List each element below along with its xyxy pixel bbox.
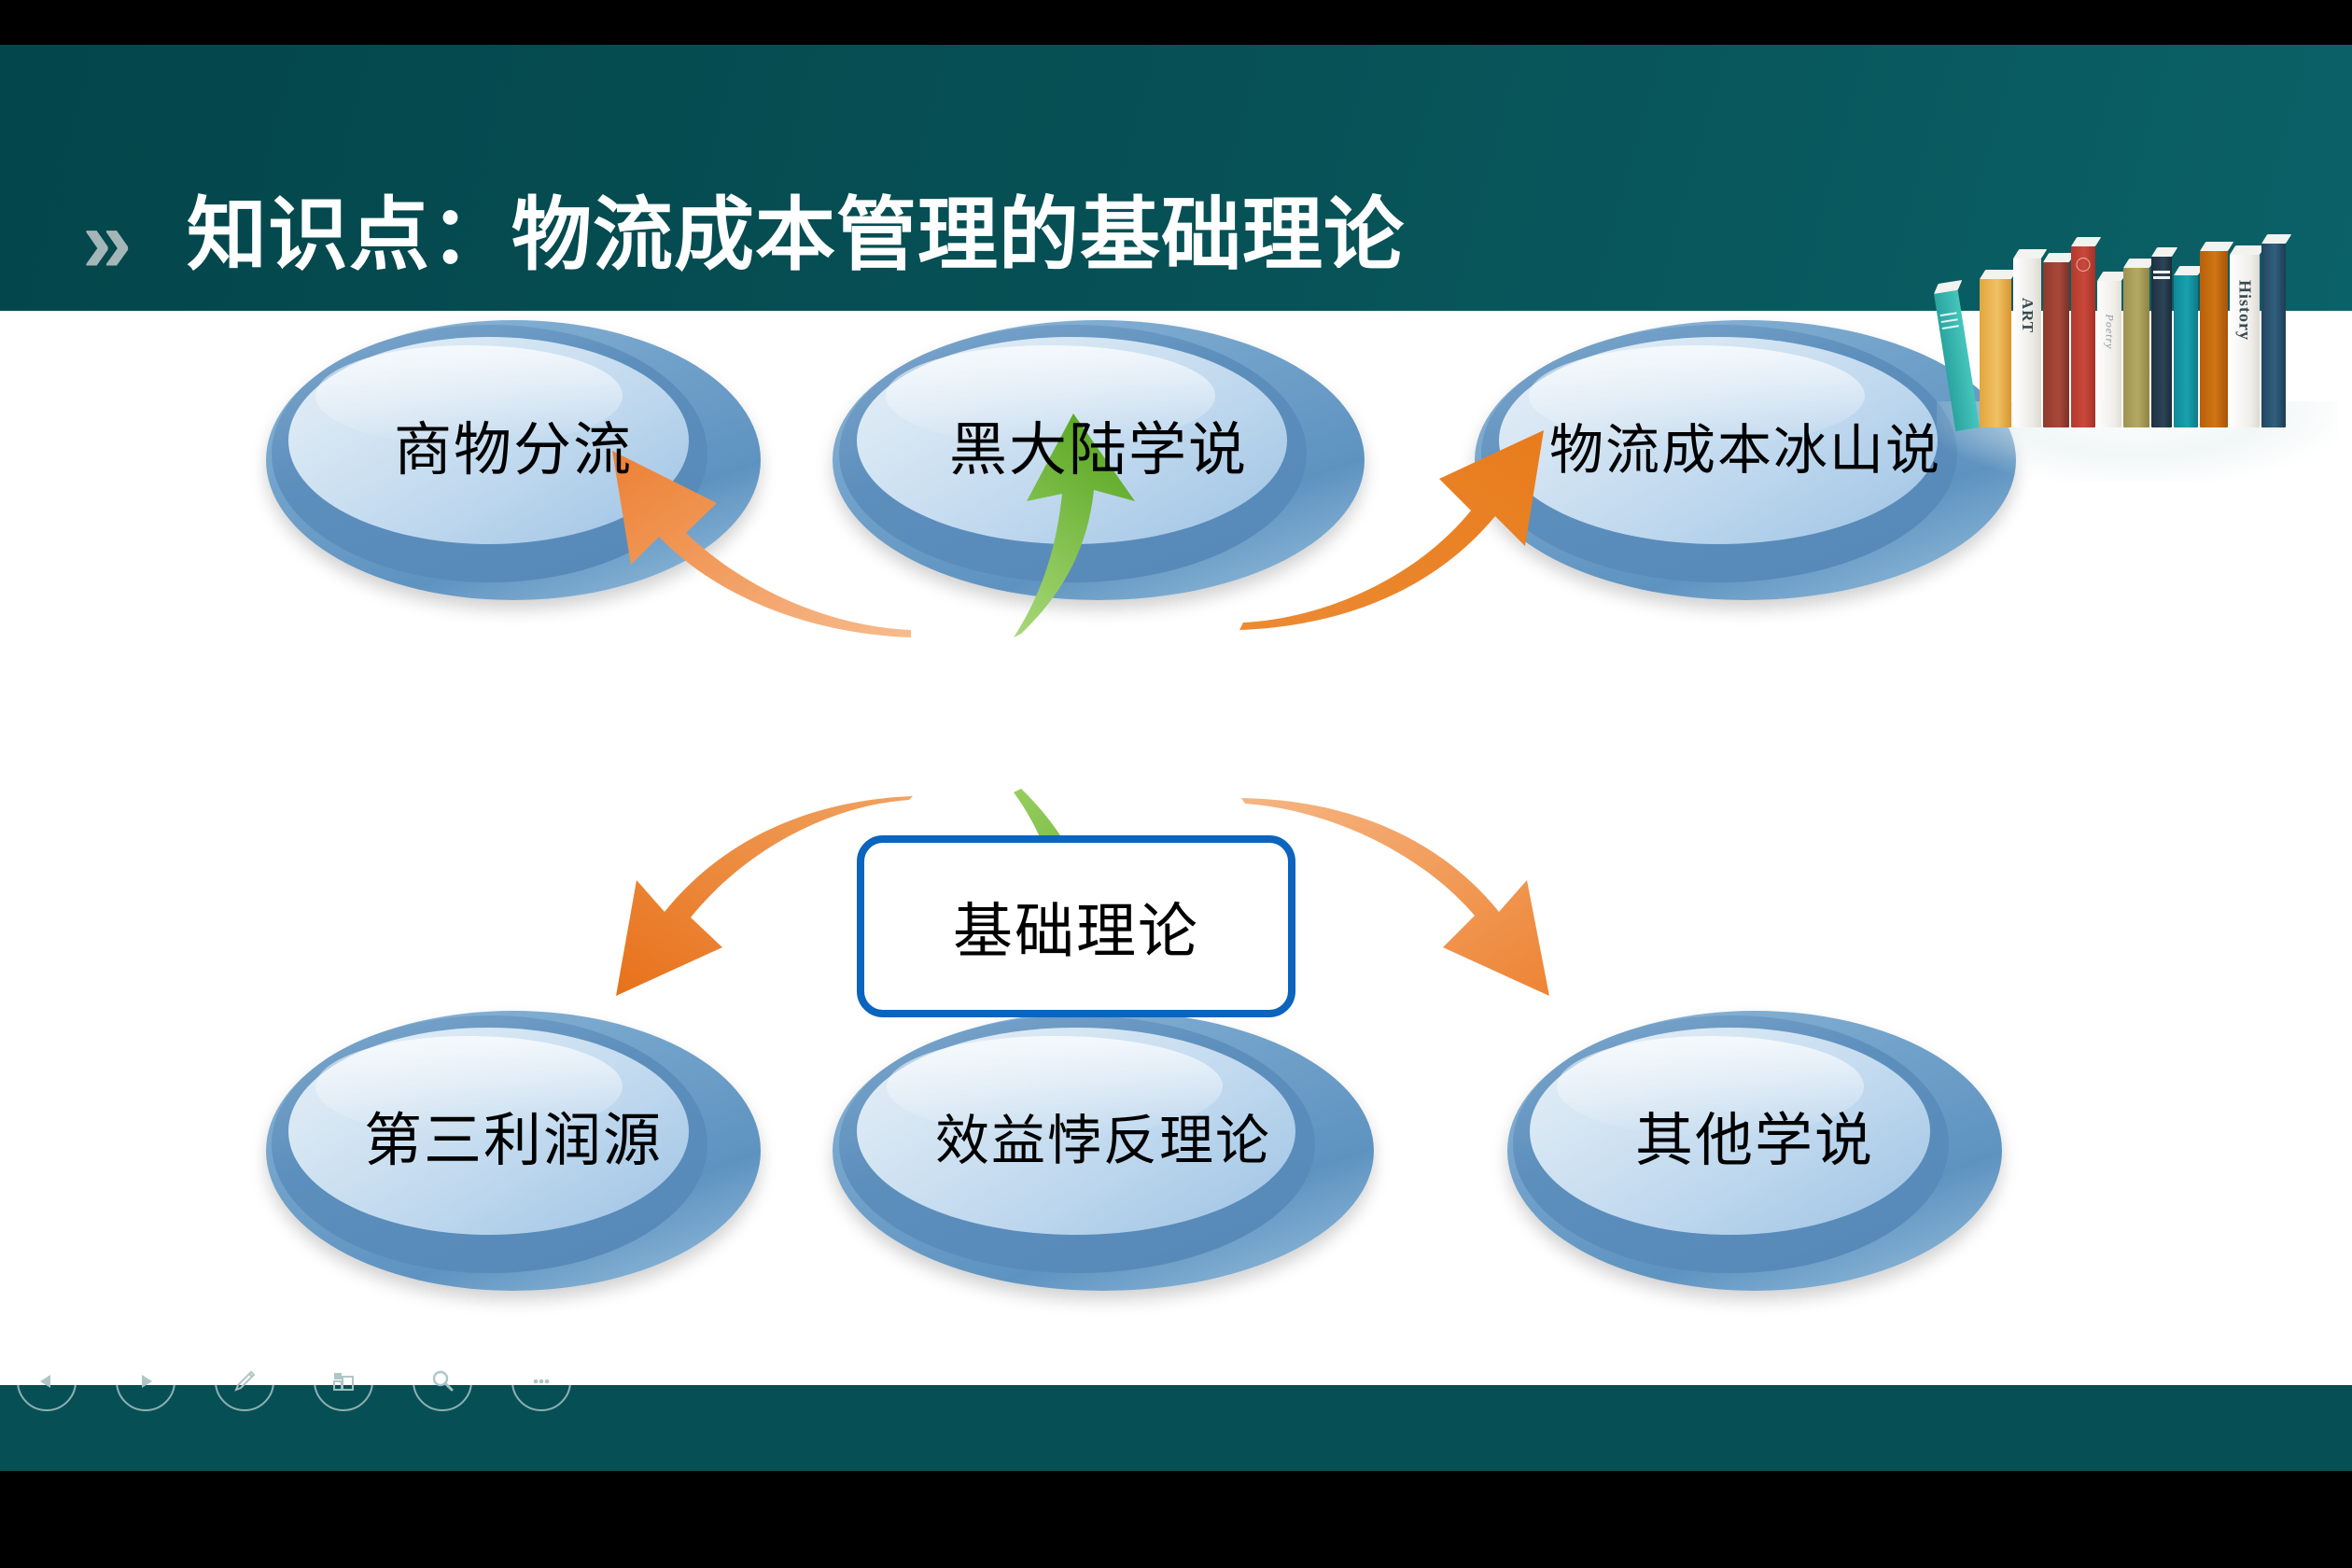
node-label: 黑大陆学说: [949, 421, 1248, 479]
book-top: [2200, 242, 2233, 251]
center-node-label: 基础理论: [953, 884, 1199, 970]
book-top: [2013, 249, 2047, 259]
node-disan-lirunyuan[interactable]: 第三利润源: [266, 1011, 761, 1291]
slides-grid-icon: [330, 1368, 357, 1394]
slides-button[interactable]: [314, 1351, 373, 1411]
node-wuliu-chengben-bingshan[interactable]: 物流成本冰山说: [1475, 320, 2016, 600]
book-red-emblem: [2071, 245, 2095, 427]
book-emblem-icon: [2077, 258, 2091, 272]
slide-body: 商物分流 黑大陆学说 物流成本冰山说 第三利润: [0, 311, 2352, 1471]
pen-icon: [231, 1368, 258, 1394]
book-art-white: ART: [2013, 258, 2041, 427]
book-top: [2151, 247, 2177, 257]
node-label: 商物分流: [394, 421, 633, 479]
node-label: 其他学说: [1635, 1112, 1874, 1169]
books-row: ART Poetry: [1955, 231, 2319, 427]
presentation-stage: » 知识点：物流成本管理的基础理论 ART: [0, 0, 2352, 1568]
book-top: [2261, 234, 2291, 244]
book-top: [2071, 237, 2101, 246]
letterbox-bottom: [0, 1471, 2352, 1568]
node-label: 第三利润源: [364, 1112, 663, 1169]
book-orange: [2200, 250, 2228, 427]
magnifier-icon: [429, 1368, 455, 1394]
more-button[interactable]: [511, 1351, 571, 1411]
play-button[interactable]: [116, 1351, 175, 1411]
presentation-control-bar: [0, 1385, 2352, 1471]
book-steelblue: [2261, 243, 2286, 427]
ellipsis-icon: [528, 1368, 554, 1394]
book-poetry-white: Poetry: [2097, 280, 2121, 427]
page-title: 知识点：物流成本管理的基础理论: [187, 185, 1405, 286]
book-darkred: [2043, 261, 2069, 427]
play-triangle-icon: [134, 1370, 157, 1393]
double-chevron-right-icon: »: [82, 202, 185, 282]
book-spine-label-history: History: [2235, 280, 2255, 341]
book-teal: [2174, 274, 2198, 427]
book-top: [2230, 245, 2265, 255]
book-top: [1980, 270, 2017, 279]
node-qita-xueshuo[interactable]: 其他学说: [1507, 1011, 2002, 1291]
book-history-white: History: [2230, 254, 2260, 427]
node-xiaoyi-beifan-lilun[interactable]: 效益悖反理论: [833, 1011, 1374, 1291]
previous-triangle-icon: [35, 1370, 58, 1393]
control-button-group: [17, 1351, 571, 1411]
node-label: 物流成本冰山说: [1549, 423, 1941, 477]
node-label: 效益悖反理论: [935, 1113, 1271, 1168]
zoom-button[interactable]: [413, 1351, 472, 1411]
letterbox-top: [0, 0, 2352, 45]
book-navy-striped: [2151, 256, 2172, 427]
books-decoration: ART Poetry: [1955, 203, 2319, 455]
arrow-up-right: [1239, 419, 1547, 630]
arrow-up-left: [597, 423, 915, 637]
book-olive: [2123, 267, 2149, 427]
book-spine-label-poetry: Poetry: [2103, 315, 2117, 350]
book-amber: [1980, 278, 2011, 427]
slide-canvas: » 知识点：物流成本管理的基础理论 ART: [0, 45, 2352, 1471]
previous-button[interactable]: [17, 1351, 77, 1411]
center-node-basic-theory[interactable]: 基础理论: [857, 835, 1295, 1017]
book-spine-label-art: ART: [2018, 298, 2037, 333]
pen-button[interactable]: [215, 1351, 274, 1411]
